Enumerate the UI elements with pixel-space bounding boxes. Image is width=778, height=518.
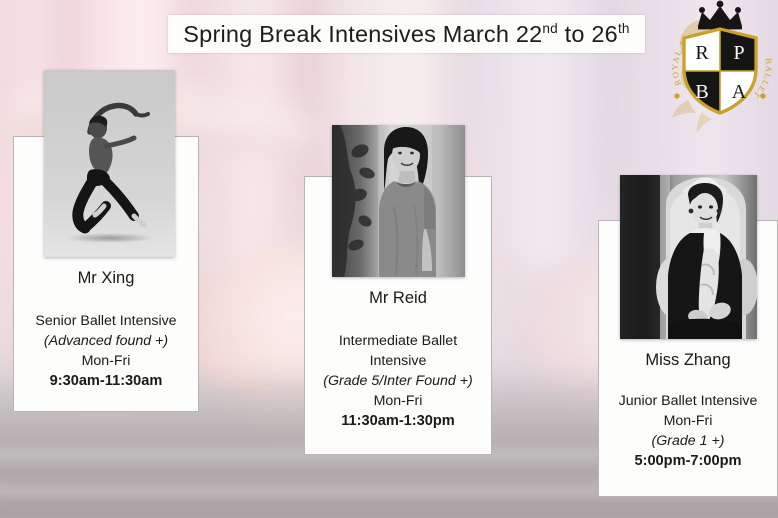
card-text-block: Mr Xing Senior Ballet Intensive (Advance… xyxy=(14,269,198,392)
card-line: Intermediate Ballet xyxy=(305,331,491,351)
teacher-photo-zhang xyxy=(620,175,757,339)
teacher-photo-reid xyxy=(332,125,465,277)
card-text-block: Mr Reid Intermediate Ballet Intensive (G… xyxy=(305,289,491,432)
card-line: (Advanced found +) xyxy=(14,331,198,351)
poster-root: Spring Break Intensives March 22nd to 26… xyxy=(0,0,778,518)
teacher-name: Mr Xing xyxy=(14,269,198,289)
crest-initial-r: R xyxy=(695,42,709,64)
poster-title: Spring Break Intensives March 22nd to 26… xyxy=(183,21,629,48)
card-line: Mon-Fri xyxy=(305,391,491,411)
card-line: Mon-Fri xyxy=(14,351,198,371)
card-text-block: Miss Zhang Junior Ballet Intensive Mon-F… xyxy=(599,351,777,472)
card-line: (Grade 1 +) xyxy=(599,431,777,451)
crest-initial-a: A xyxy=(732,81,747,103)
royal-principal-ballet-logo: R P B A ROYAL PRINCIPAL BALLET xyxy=(664,0,776,140)
teacher-name: Miss Zhang xyxy=(599,351,777,371)
crown-icon xyxy=(698,1,742,30)
title-middle: to 26 xyxy=(558,21,618,47)
crest-initial-p: P xyxy=(733,42,744,64)
card-line: 9:30am-11:30am xyxy=(14,371,198,392)
title-ordinal-1: nd xyxy=(542,21,558,36)
card-line: 11:30am-1:30pm xyxy=(305,411,491,432)
card-line: Intensive xyxy=(305,351,491,371)
teacher-name: Mr Reid xyxy=(305,289,491,309)
card-line: Mon-Fri xyxy=(599,411,777,431)
teacher-photo-xing xyxy=(44,70,175,257)
crest-initial-b: B xyxy=(695,81,708,103)
card-line: (Grade 5/Inter Found +) xyxy=(305,371,491,391)
title-prefix: Spring Break Intensives March 22 xyxy=(183,21,542,47)
title-ordinal-2: th xyxy=(618,21,630,36)
card-line: Junior Ballet Intensive xyxy=(599,391,777,411)
card-line: Senior Ballet Intensive xyxy=(14,311,198,331)
card-line: 5:00pm-7:00pm xyxy=(599,451,777,472)
poster-title-box: Spring Break Intensives March 22nd to 26… xyxy=(168,15,645,53)
